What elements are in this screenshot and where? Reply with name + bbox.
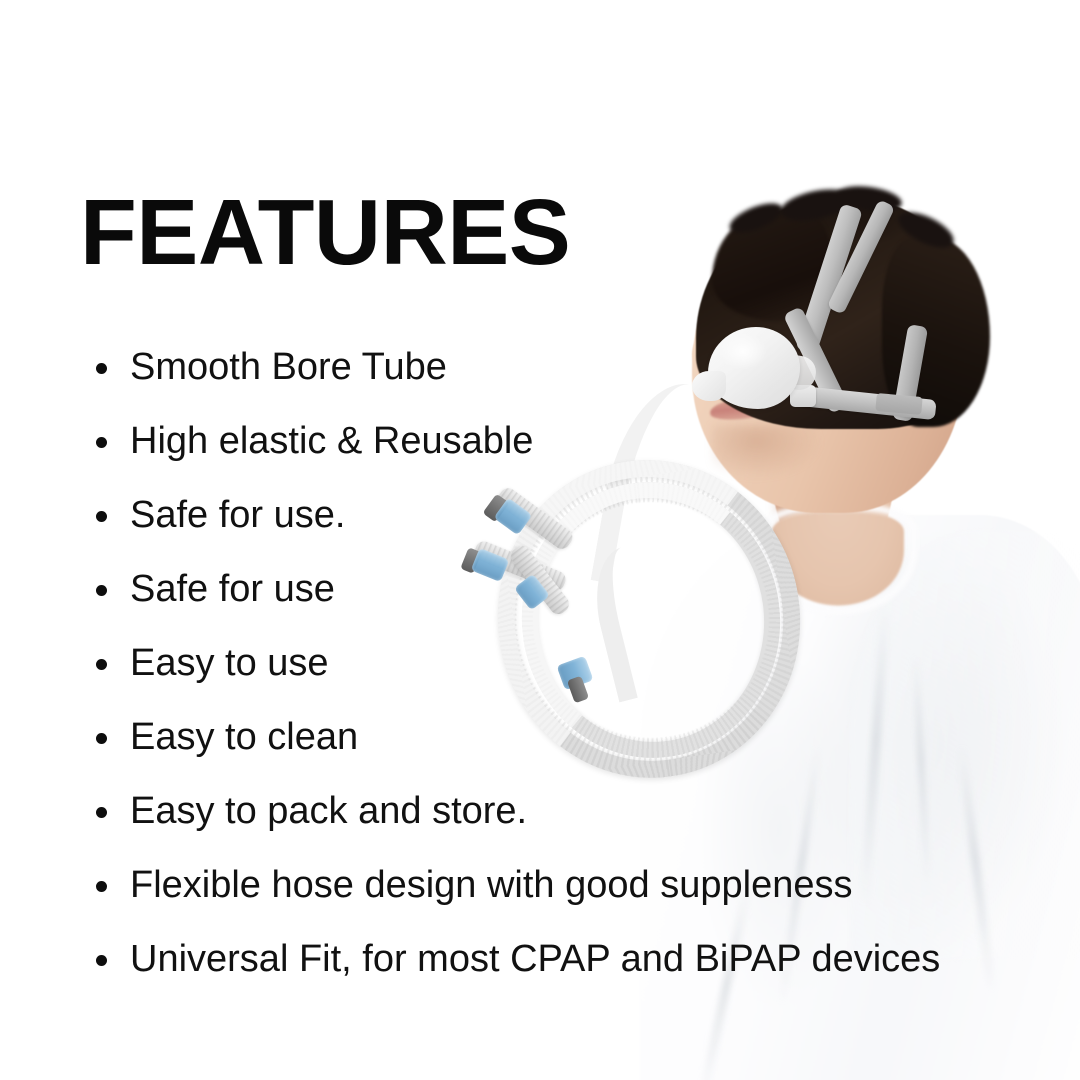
list-item: Easy to pack and store. (88, 774, 1068, 848)
product-feature-image: FEATURES Smooth Bore Tube High elastic &… (0, 0, 1080, 1080)
list-item: Smooth Bore Tube (88, 330, 1068, 404)
feature-list: Smooth Bore Tube High elastic & Reusable… (88, 330, 1068, 996)
list-item: High elastic & Reusable (88, 404, 1068, 478)
list-item: Safe for use. (88, 478, 1068, 552)
text-content: FEATURES Smooth Bore Tube High elastic &… (0, 0, 1080, 1080)
list-item: Easy to use (88, 626, 1068, 700)
list-item: Easy to clean (88, 700, 1068, 774)
list-item: Safe for use (88, 552, 1068, 626)
list-item: Flexible hose design with good supplenes… (88, 848, 1068, 922)
page-title: FEATURES (80, 186, 570, 279)
list-item: Universal Fit, for most CPAP and BiPAP d… (88, 922, 1068, 996)
